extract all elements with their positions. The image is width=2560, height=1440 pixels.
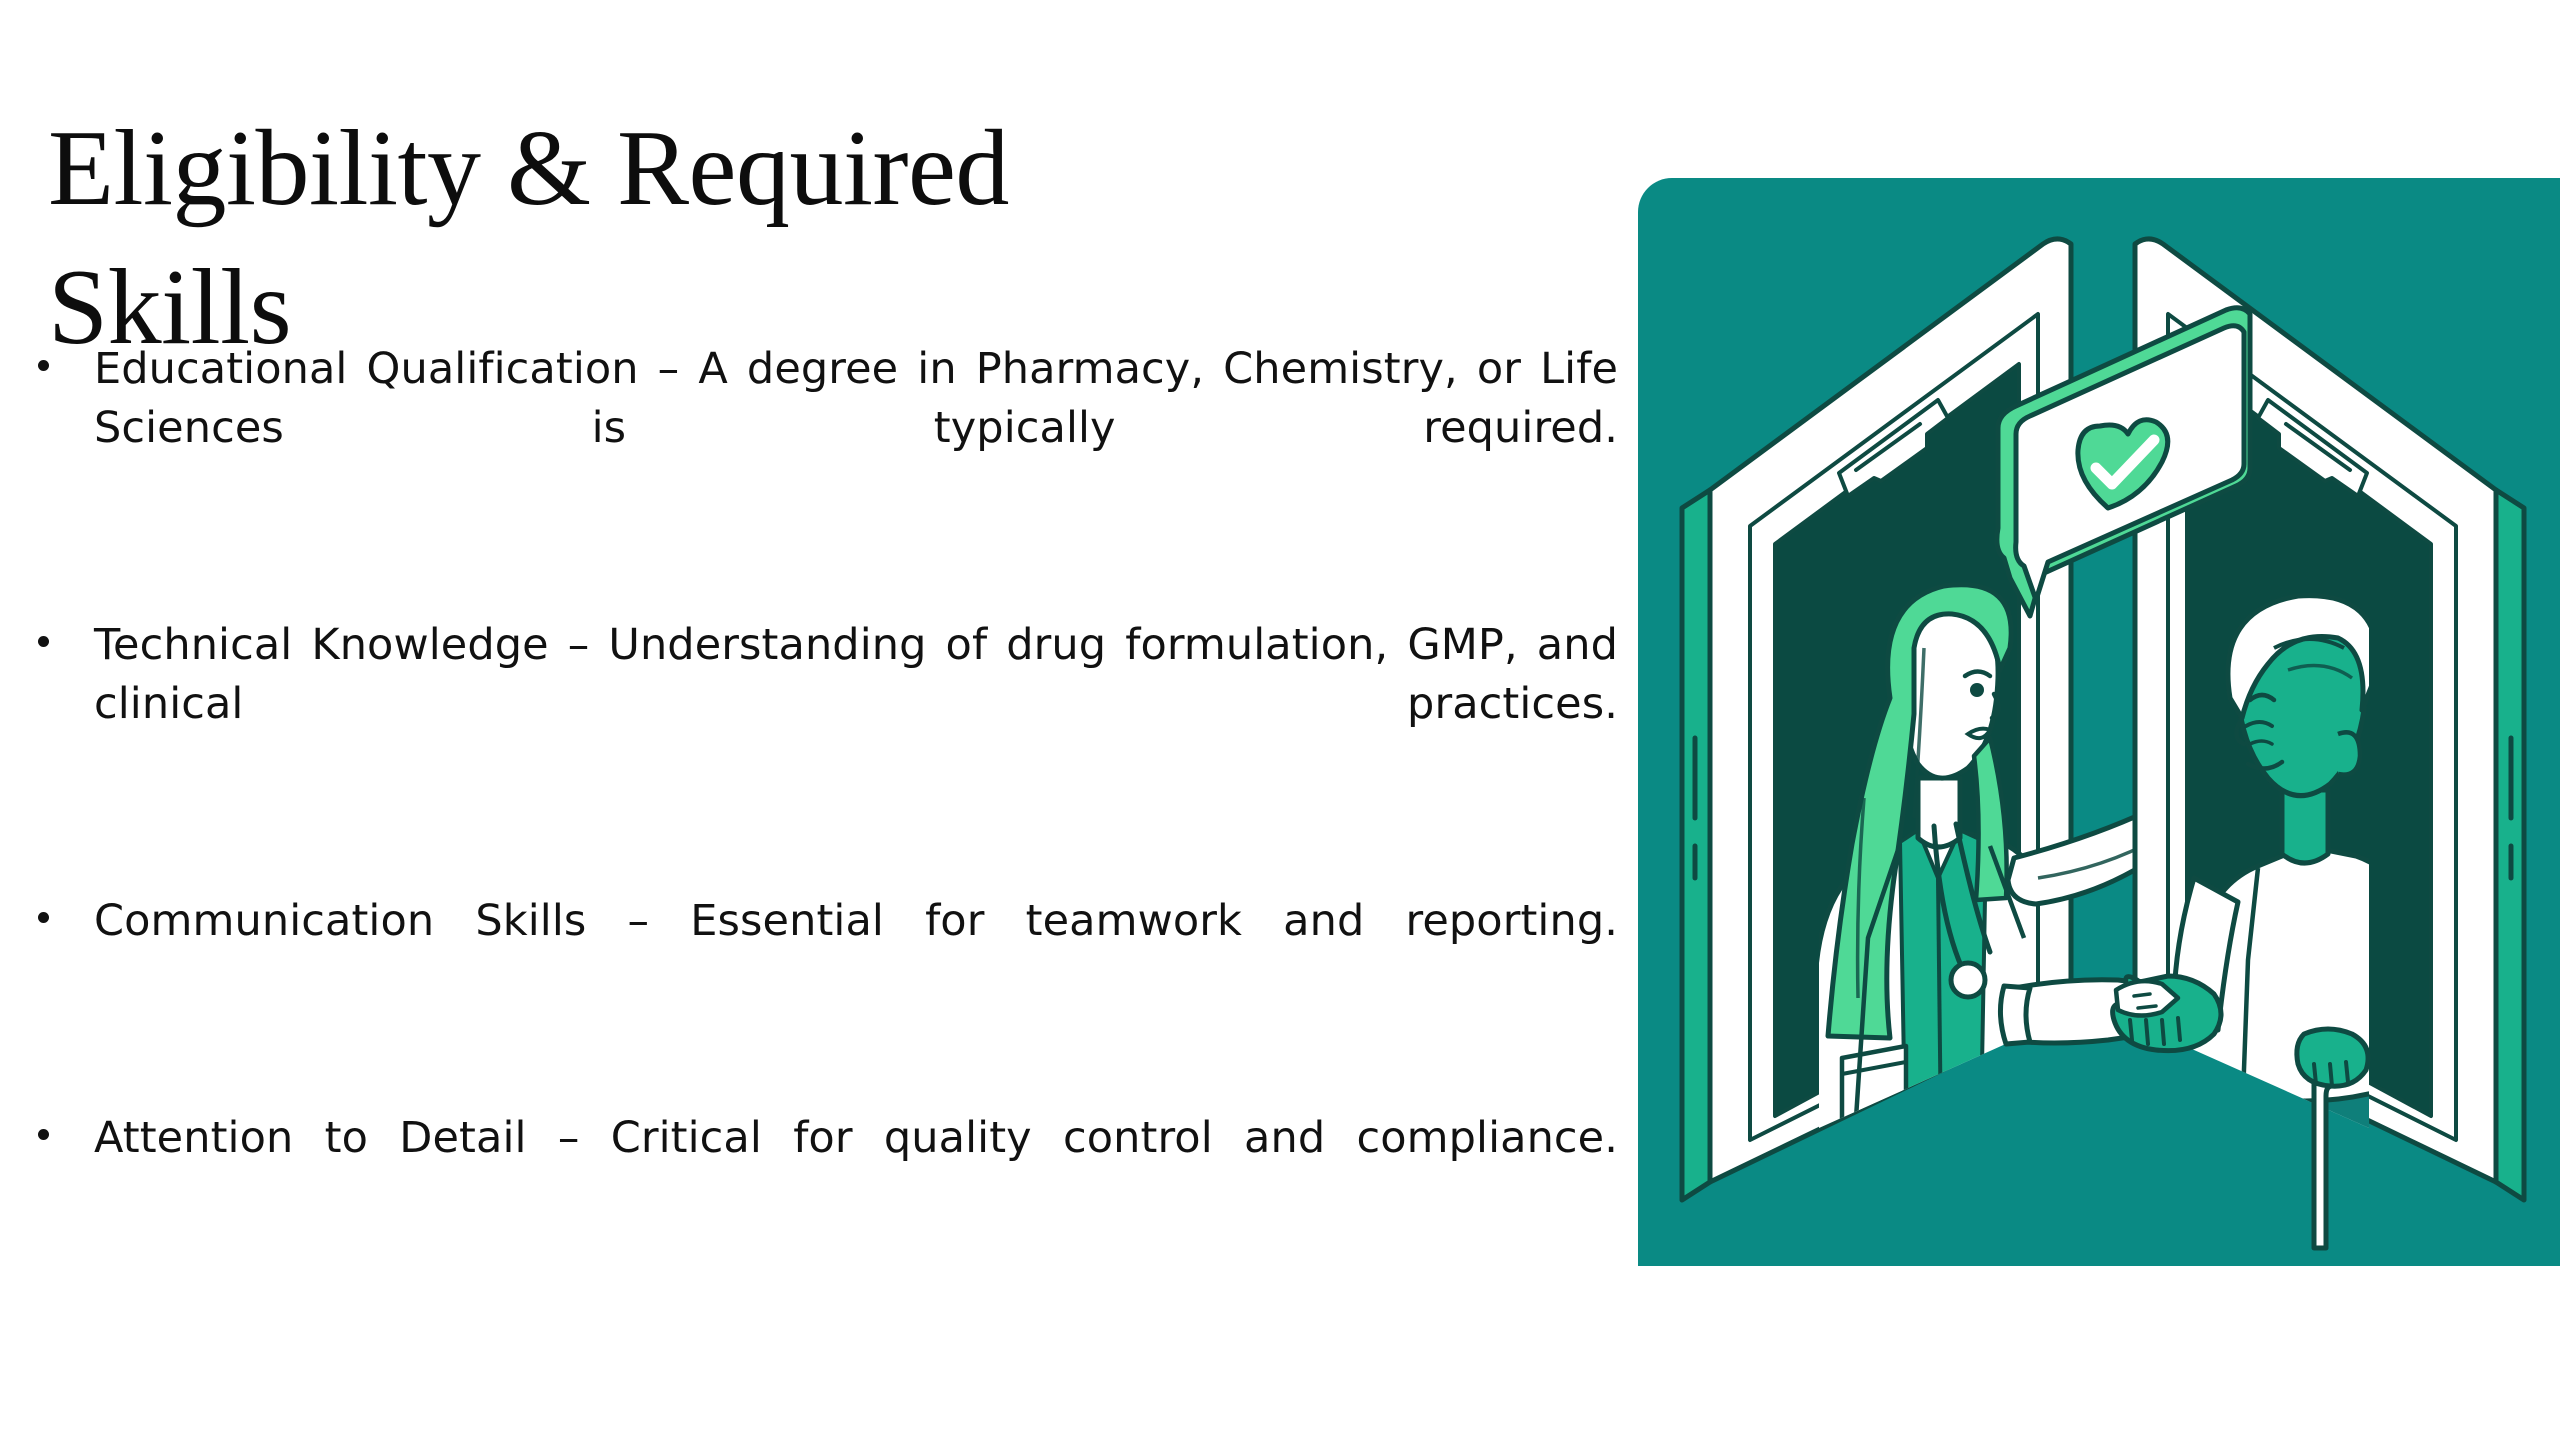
page-title: Eligibility & Required Skills [48, 100, 1228, 376]
telemedicine-handshake-illustration [1638, 178, 2560, 1266]
list-item: Educational Qualification – A degree in … [38, 340, 1618, 518]
skills-bullet-list: Educational Qualification – A degree in … [38, 340, 1618, 1227]
bullet-dot-icon [38, 360, 49, 371]
list-item-label: Attention to Detail – Critical for quali… [94, 1113, 1618, 1222]
bullet-dot-icon [38, 1129, 49, 1140]
list-item-label: Technical Knowledge – Understanding of d… [94, 620, 1618, 789]
bullet-dot-icon [38, 636, 49, 647]
bullet-dot-icon [38, 912, 49, 923]
illustration-panel [1638, 178, 2560, 1266]
list-item-label: Educational Qualification – A degree in … [94, 344, 1618, 513]
list-item: Technical Knowledge – Understanding of d… [38, 616, 1618, 794]
content-column: Eligibility & Required Skills Educationa… [0, 0, 1640, 1440]
list-item: Communication Skills – Essential for tea… [38, 892, 1618, 1011]
list-item: Attention to Detail – Critical for quali… [38, 1109, 1618, 1228]
slide: Eligibility & Required Skills Educationa… [0, 0, 2560, 1440]
list-item-label: Communication Skills – Essential for tea… [94, 896, 1618, 1005]
